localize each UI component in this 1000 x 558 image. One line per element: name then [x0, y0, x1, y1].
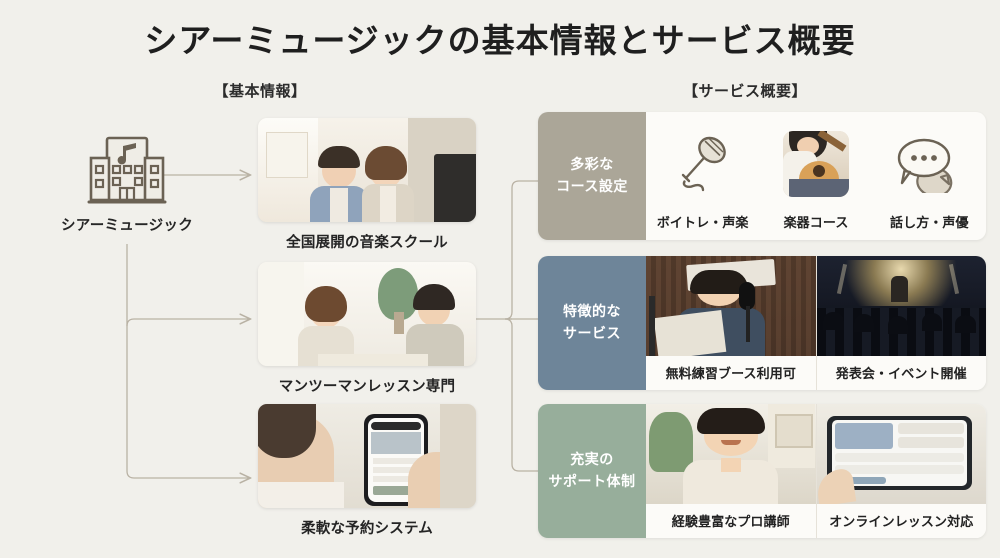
service-item-online-lesson-art: [817, 404, 987, 504]
service-item-practice-booth-caption: 無料練習ブース利用可: [646, 356, 816, 390]
section-heading-service-overview: 【サービス概要】: [650, 80, 840, 101]
service-item-speech-caption: 話し方・声優: [890, 212, 969, 231]
basic-card-2-caption: マンツーマンレッスン専門: [258, 375, 476, 396]
service-row-2-label-line2: サービス: [563, 323, 621, 345]
basic-card-1-caption: 全国展開の音楽スクール: [258, 231, 476, 252]
service-row-1-body: ボイトレ・声楽: [646, 112, 986, 240]
service-item-instrument-caption: 楽器コース: [784, 212, 849, 231]
service-row-2-label-line1: 特徴的な: [563, 301, 621, 323]
infographic-canvas: シアーミュージックの基本情報とサービス概要 【基本情報】 【サービス概要】: [0, 0, 1000, 558]
service-item-vocal-caption: ボイトレ・声楽: [657, 212, 749, 231]
service-item-online-lesson-caption: オンラインレッスン対応: [817, 504, 987, 538]
service-item-recital-art: [817, 256, 987, 356]
page-title: シアーミュージックの基本情報とサービス概要: [0, 14, 1000, 62]
source-node: シアーミュージック: [52, 132, 202, 235]
service-item-practice-booth-art: [646, 256, 816, 356]
basic-card-1-image: [258, 118, 476, 222]
service-row-features[interactable]: 特徴的な サービス: [538, 256, 986, 390]
service-item-online-lesson[interactable]: オンラインレッスン対応: [817, 404, 987, 538]
service-item-recital[interactable]: 発表会・イベント開催: [817, 256, 987, 390]
service-row-support[interactable]: 充実の サポート体制: [538, 404, 986, 538]
service-row-1-label: 多彩な コース設定: [538, 112, 646, 240]
service-row-2-body: 無料練習ブース利用可: [646, 256, 986, 390]
service-item-instrument-art: [761, 120, 870, 207]
service-item-vocal[interactable]: ボイトレ・声楽: [646, 112, 759, 240]
service-row-3-label: 充実の サポート体制: [538, 404, 646, 538]
service-item-pro-instructor-art: [646, 404, 816, 504]
service-item-practice-booth[interactable]: 無料練習ブース利用可: [646, 256, 816, 390]
service-row-courses[interactable]: 多彩な コース設定: [538, 112, 986, 240]
section-heading-basic-info: 【基本情報】: [180, 80, 340, 101]
service-row-2-label: 特徴的な サービス: [538, 256, 646, 390]
service-item-vocal-art: [648, 120, 757, 207]
service-row-3-body: 経験豊富なプロ講師: [646, 404, 986, 538]
service-row-1-label-line1: 多彩な: [556, 154, 628, 176]
service-item-recital-caption: 発表会・イベント開催: [817, 356, 987, 390]
service-row-3-label-line1: 充実の: [549, 449, 636, 471]
building-music-icon: [85, 132, 169, 206]
service-item-pro-instructor-caption: 経験豊富なプロ講師: [646, 504, 816, 538]
basic-card-2[interactable]: マンツーマンレッスン専門: [258, 262, 476, 396]
basic-card-1[interactable]: 全国展開の音楽スクール: [258, 118, 476, 252]
service-row-3-label-line2: サポート体制: [549, 471, 636, 493]
microphone-icon: [672, 131, 734, 197]
basic-card-2-image: [258, 262, 476, 366]
service-item-instrument[interactable]: 楽器コース: [759, 112, 872, 240]
source-label: シアーミュージック: [52, 214, 202, 235]
service-item-speech-art: [875, 120, 984, 207]
basic-card-3-caption: 柔軟な予約システム: [258, 517, 476, 538]
service-item-pro-instructor[interactable]: 経験豊富なプロ講師: [646, 404, 816, 538]
service-row-1-label-line2: コース設定: [556, 176, 628, 198]
basic-card-3-image: [258, 404, 476, 508]
speech-bubbles-icon: [894, 135, 964, 193]
basic-card-3[interactable]: 柔軟な予約システム: [258, 404, 476, 538]
service-item-speech[interactable]: 話し方・声優: [873, 112, 986, 240]
